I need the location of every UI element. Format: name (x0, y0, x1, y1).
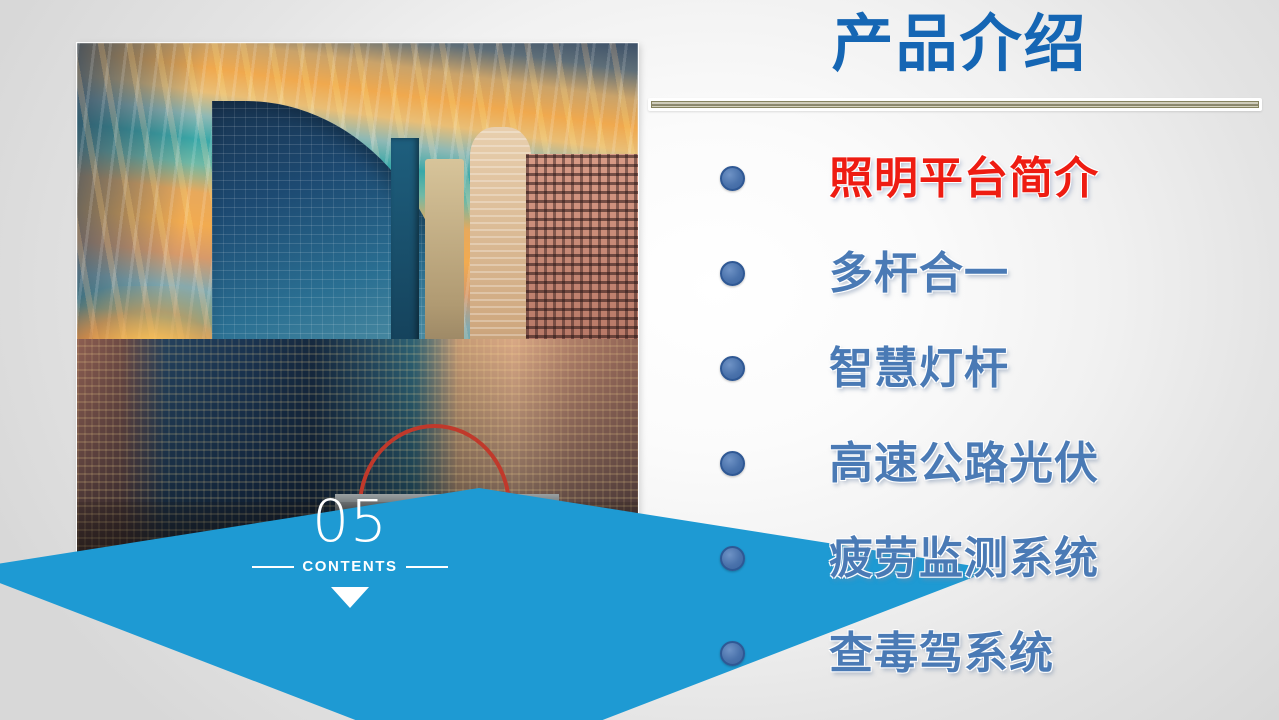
agenda-list: 照明平台简介 多杆合一 智慧灯杆 高速公路光伏 疲劳监测系统 查毒驾系统 (648, 131, 1268, 701)
bullet-dot-icon (720, 166, 745, 191)
list-item[interactable]: 查毒驾系统 (648, 606, 1268, 701)
bullet-dot-icon (720, 261, 745, 286)
list-item[interactable]: 智慧灯杆 (648, 321, 1268, 416)
presentation-slide: 05 CONTENTS 产品介绍 照明平台简介 多杆合一 智慧灯杆 高速公路光伏 (0, 0, 1279, 720)
bullet-dot-icon (720, 546, 745, 571)
list-item[interactable]: 高速公路光伏 (648, 416, 1268, 511)
bullet-dot-icon (720, 356, 745, 381)
list-item-label: 疲劳监测系统 (829, 537, 1099, 581)
list-item[interactable]: 照明平台简介 (648, 131, 1268, 226)
cityscape-photo-frame (77, 43, 638, 571)
list-item-label: 高速公路光伏 (829, 442, 1099, 486)
list-item-label: 智慧灯杆 (829, 347, 1009, 391)
bullet-dot-icon (720, 451, 745, 476)
cityscape-photo (77, 43, 638, 571)
page-title: 产品介绍 (640, 6, 1279, 84)
list-item[interactable]: 多杆合一 (648, 226, 1268, 321)
bullet-dot-icon (720, 641, 745, 666)
list-item-label: 多杆合一 (829, 252, 1009, 296)
list-item[interactable]: 疲劳监测系统 (648, 511, 1268, 606)
list-item-label: 查毒驾系统 (829, 632, 1054, 676)
divider-bar (651, 101, 1259, 108)
title-divider (648, 98, 1262, 111)
list-item-label: 照明平台简介 (829, 157, 1099, 201)
